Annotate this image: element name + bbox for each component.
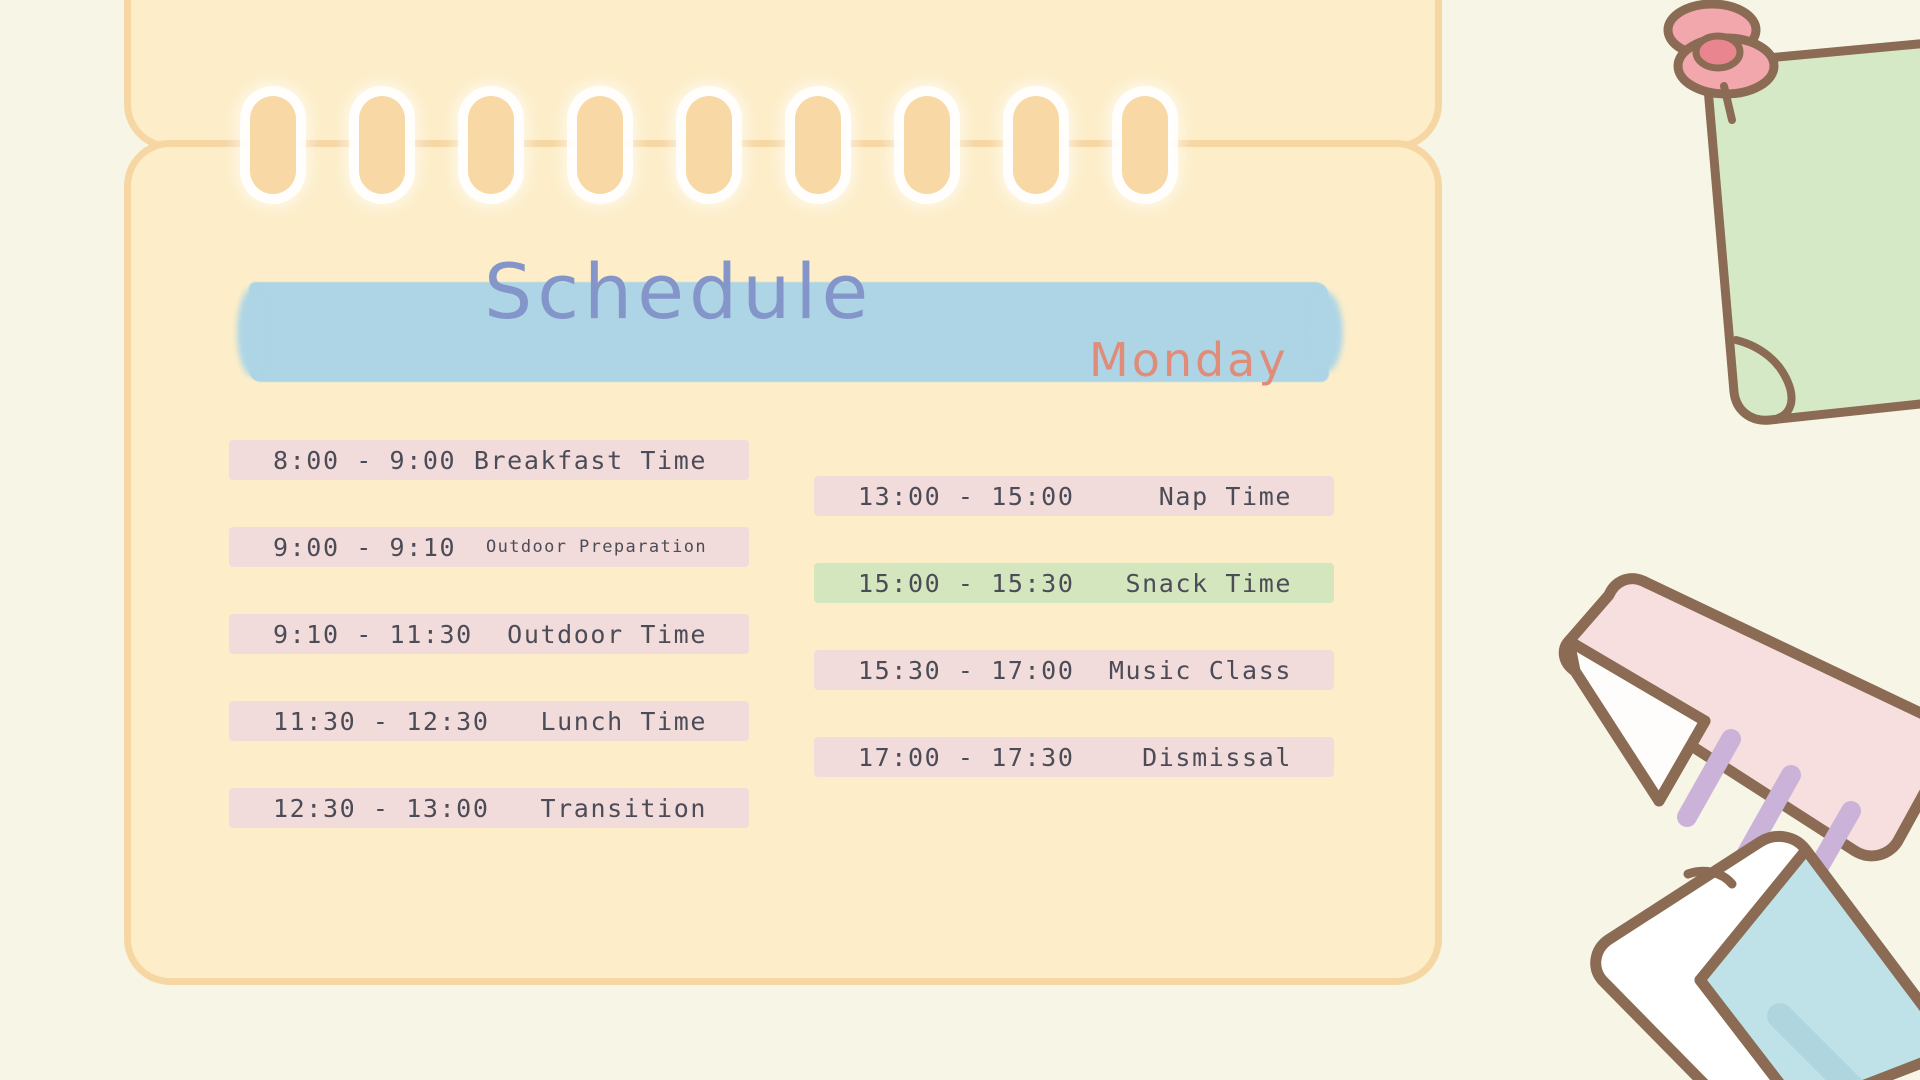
page-title: Schedule bbox=[484, 247, 873, 336]
schedule-row-time: 17:00 - 17:30 bbox=[814, 743, 1074, 772]
notebook: Schedule Monday 8:00 - 9:00Breakfast Tim… bbox=[0, 0, 1500, 1030]
schedule-row[interactable]: 9:00 - 9:10Outdoor Preparation bbox=[229, 527, 749, 567]
schedule-row-time: 9:10 - 11:30 bbox=[229, 620, 473, 649]
spiral-ring bbox=[1013, 96, 1059, 194]
schedule-row[interactable]: 9:10 - 11:30Outdoor Time bbox=[229, 614, 749, 654]
schedule-row-activity: Dismissal bbox=[1142, 743, 1334, 772]
schedule-row-time: 15:00 - 15:30 bbox=[814, 569, 1074, 598]
pencil-icon bbox=[1555, 545, 1920, 879]
schedule-row-time: 11:30 - 12:30 bbox=[229, 707, 489, 736]
spiral-ring bbox=[686, 96, 732, 194]
page-header: Schedule Monday bbox=[124, 255, 1442, 415]
schedule-row-activity: Nap Time bbox=[1159, 482, 1334, 511]
spiral-ring bbox=[577, 96, 623, 194]
schedule-row-time: 9:00 - 9:10 bbox=[229, 533, 456, 562]
spiral-binding bbox=[124, 80, 1442, 210]
schedule-row-activity: Transition bbox=[540, 794, 749, 823]
schedule-row-time: 8:00 - 9:00 bbox=[229, 446, 456, 475]
schedule-row[interactable]: 11:30 - 12:30Lunch Time bbox=[229, 701, 749, 741]
schedule-row-activity: Music Class bbox=[1109, 656, 1334, 685]
schedule-list: 8:00 - 9:00Breakfast Time9:00 - 9:10Outd… bbox=[124, 440, 1442, 890]
spiral-ring bbox=[795, 96, 841, 194]
schedule-column-right: 13:00 - 15:00Nap Time15:00 - 15:30Snack … bbox=[814, 476, 1334, 824]
schedule-row[interactable]: 8:00 - 9:00Breakfast Time bbox=[229, 440, 749, 480]
spiral-ring bbox=[468, 96, 514, 194]
day-label: Monday bbox=[1089, 333, 1289, 387]
schedule-row[interactable]: 12:30 - 13:00Transition bbox=[229, 788, 749, 828]
schedule-row-activity: Outdoor Time bbox=[507, 620, 749, 649]
schedule-row-activity: Breakfast Time bbox=[474, 446, 749, 475]
spiral-ring bbox=[1122, 96, 1168, 194]
pushpin-icon bbox=[1640, 0, 1800, 144]
schedule-row-activity: Outdoor Preparation bbox=[486, 537, 749, 557]
schedule-row-activity: Snack Time bbox=[1125, 569, 1334, 598]
eraser-icon bbox=[1580, 830, 1920, 1080]
decorations bbox=[1500, 0, 1920, 1080]
schedule-column-left: 8:00 - 9:00Breakfast Time9:00 - 9:10Outd… bbox=[229, 440, 749, 875]
schedule-row-activity: Lunch Time bbox=[540, 707, 749, 736]
spiral-ring bbox=[904, 96, 950, 194]
schedule-row[interactable]: 17:00 - 17:30Dismissal bbox=[814, 737, 1334, 777]
schedule-row-time: 13:00 - 15:00 bbox=[814, 482, 1074, 511]
spiral-ring bbox=[359, 96, 405, 194]
schedule-row-time: 15:30 - 17:00 bbox=[814, 656, 1074, 685]
schedule-row[interactable]: 15:30 - 17:00Music Class bbox=[814, 650, 1334, 690]
sticky-note-icon bbox=[1650, 10, 1920, 444]
schedule-row-time: 12:30 - 13:00 bbox=[229, 794, 489, 823]
spiral-ring bbox=[250, 96, 296, 194]
schedule-row[interactable]: 15:00 - 15:30Snack Time bbox=[814, 563, 1334, 603]
schedule-row[interactable]: 13:00 - 15:00Nap Time bbox=[814, 476, 1334, 516]
